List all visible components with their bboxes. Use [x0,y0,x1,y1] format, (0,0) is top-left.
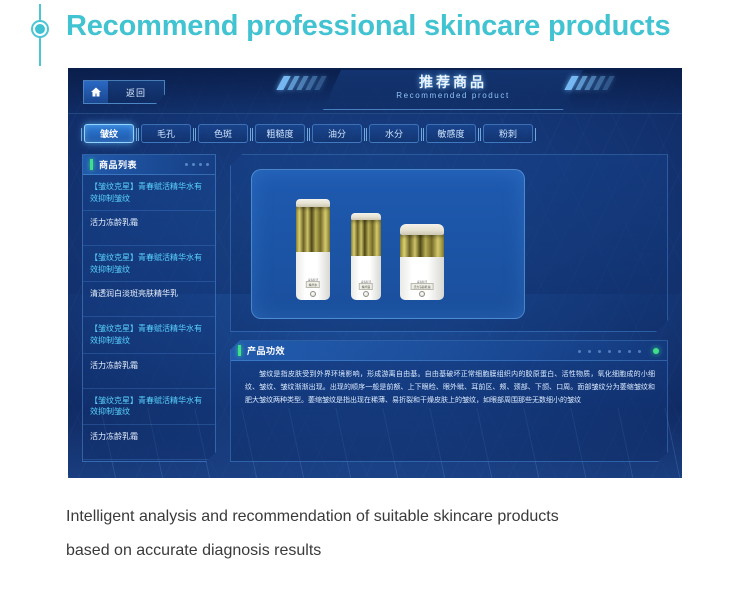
tab-sensitivity[interactable]: 敏感度 [426,124,476,143]
list-item[interactable]: 活力冻龄乳霜 [83,354,215,389]
status-indicator-dot [653,348,659,354]
list-item[interactable]: 【皱纹克星】青春赋活精华水有效抑制皱纹 [83,389,215,425]
device-screen: 推荐商品 Recommended product 返回 皱纹 毛孔 色斑 粗糙度… [68,68,682,478]
category-tabs[interactable]: 皱纹 毛孔 色斑 粗糙度 油分 水分 敏感度 粉刺 [84,124,533,143]
bottle-cap [351,213,381,220]
bottle-emblem-icon [310,291,316,297]
efficacy-dots-decoration [578,350,641,353]
product-list-body: 【皱纹克星】青春赋活精华水有效抑制皱纹 活力冻龄乳霜 【皱纹克星】青春赋活精华水… [83,175,215,460]
product-display-panel: 青春赋活 精华水 青春赋活 精华露 青春赋活 活力冻龄乳 [230,154,668,332]
product-jar[interactable]: 青春赋活 活力冻龄乳霜 [400,224,444,300]
bottle-cap [296,199,330,207]
product-bottle-tall[interactable]: 青春赋活 精华水 [296,199,330,300]
tab-acne[interactable]: 粉刺 [483,124,533,143]
list-item[interactable]: 【皱纹克星】青春赋活精华水有效抑制皱纹 [83,246,215,282]
tab-oil[interactable]: 油分 [312,124,362,143]
accent-bar-icon [90,159,93,170]
bottle-gold-section [296,207,330,252]
jar-emblem-icon [419,291,425,297]
screen-header: 推荐商品 Recommended product [323,70,583,110]
jar-body: 青春赋活 活力冻龄乳霜 [400,257,444,300]
list-item[interactable]: 活力冻龄乳霜 [83,211,215,246]
product-bottle-medium[interactable]: 青春赋活 精华露 [351,213,381,300]
chevron-right-decoration [568,76,628,92]
list-item[interactable]: 【皱纹克星】青春赋活精华水有效抑制皱纹 [83,317,215,353]
product-list-title: 商品列表 [99,158,137,171]
header-dots-decoration [185,163,209,166]
jar-cap [400,224,444,235]
screen-topbar: 推荐商品 Recommended product 返回 [68,68,682,114]
list-item[interactable]: 活力冻龄乳霜 [83,425,215,460]
product-list-header: 商品列表 [83,155,215,175]
tab-roughness[interactable]: 粗糙度 [255,124,305,143]
tab-spots[interactable]: 色斑 [198,124,248,143]
caption-line-1: Intelligent analysis and recommendation … [66,500,706,534]
bottle-emblem-icon [363,291,369,297]
tab-wrinkle[interactable]: 皱纹 [84,124,134,143]
efficacy-header: 产品功效 [231,341,667,361]
caption-block: Intelligent analysis and recommendation … [66,500,706,567]
header-title-cn: 推荐商品 [323,72,583,92]
tab-moisture[interactable]: 水分 [369,124,419,143]
jar-label-box: 活力冻龄乳霜 [411,283,434,290]
caption-line-2: based on accurate diagnosis results [66,534,706,568]
bottle-body: 青春赋活 精华水 [296,252,330,300]
efficacy-panel: 产品功效 皱纹是指皮肤受到外界环境影响，形成游离自由基。自由基破坏正常细胞膜组织… [230,340,668,462]
accent-bar-icon [238,345,241,356]
product-stage: 青春赋活 精华水 青春赋活 精华露 青春赋活 活力冻龄乳 [251,169,525,319]
back-button[interactable]: 返回 [83,80,165,104]
jar-gold-section [400,235,444,257]
bottle-gold-section [351,220,381,256]
efficacy-title: 产品功效 [247,344,285,357]
title-bullet-icon [33,22,47,36]
efficacy-description: 皱纹是指皮肤受到外界环境影响，形成游离自由基。自由基破坏正常细胞膜组织内的胶原蛋… [231,361,667,408]
product-list-panel: 商品列表 【皱纹克星】青春赋活精华水有效抑制皱纹 活力冻龄乳霜 【皱纹克星】青春… [82,154,216,462]
bottle-label-box: 精华露 [359,283,373,290]
header-title-en: Recommended product [323,91,583,100]
page-title-row: Recommend professional skincare products [0,0,750,68]
bottle-label-box: 精华水 [306,281,320,288]
page-title: Recommend professional skincare products [66,10,670,43]
list-item[interactable]: 清透润白淡斑亮肤精华乳 [83,282,215,317]
chevron-left-decoration [263,76,323,92]
list-item[interactable]: 【皱纹克星】青春赋活精华水有效抑制皱纹 [83,175,215,211]
bottle-body: 青春赋活 精华露 [351,256,381,300]
home-icon[interactable] [84,81,108,103]
back-button-label: 返回 [108,86,164,99]
tab-pores[interactable]: 毛孔 [141,124,191,143]
